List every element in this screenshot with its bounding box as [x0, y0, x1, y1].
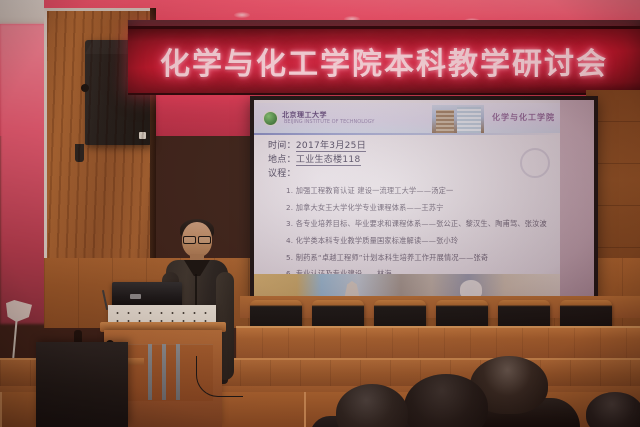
led-banner: 化学与化工学院本科教学研讨会: [128, 26, 640, 95]
laptop-indicator-icon: [130, 294, 141, 299]
lectern-trim: [176, 344, 180, 400]
agenda-item: 1. 加强工程教育认证 建设一流理工大学——汤定一: [286, 187, 552, 194]
lecture-hall-photo: 化学与化工学院本科教学研讨会 北京理工大学 BEIJING INSTITUTE …: [0, 0, 640, 427]
slide-meta-place: 地点：工业生态楼118: [268, 154, 552, 168]
power-cable: [196, 356, 243, 397]
slide-header: 北京理工大学 BEIJING INSTITUTE OF TECHNOLOGY 化…: [254, 103, 560, 133]
ceiling-spot-icon: [234, 12, 250, 18]
projection-screen: 北京理工大学 BEIJING INSTITUTE OF TECHNOLOGY 化…: [254, 100, 594, 300]
slide-meta-place-value: 工业生态楼118: [296, 155, 361, 166]
slide-meta-agenda-label: 议程：: [268, 168, 552, 182]
speaker-knob-icon: [81, 84, 89, 92]
slide-university-subtitle: BEIJING INSTITUTE OF TECHNOLOGY: [284, 120, 374, 126]
slide-college-name: 化学与化工学院: [492, 112, 555, 123]
slide-meta-place-label: 地点：: [268, 155, 296, 165]
slide-agenda-list: 1. 加强工程教育认证 建设一流理工大学——汤定一 2. 加拿大女王大学化学专业…: [268, 187, 552, 278]
slide-meta-time: 时间：2017年3月25日: [268, 140, 552, 154]
wall-plate-cable: [12, 318, 17, 358]
slide-body: 时间：2017年3月25日 地点：工业生态楼118 议程： 1. 加强工程教育认…: [268, 140, 552, 287]
campus-building-photo: [432, 105, 484, 133]
speaker-mount-bracket: [75, 144, 84, 162]
slide-watermark-icon: [520, 148, 550, 178]
university-logo-icon: [263, 111, 278, 126]
lectern-trim: [148, 344, 152, 400]
slide-header-rule: [254, 133, 560, 135]
agenda-item: 4. 化学类本科专业教学质量国家标准解读——张小玲: [286, 237, 552, 244]
agenda-item: 2. 加拿大女王大学化学专业课程体系——王苏宁: [286, 204, 552, 211]
glasses-icon: [183, 236, 211, 242]
lectern-trim: [162, 344, 166, 400]
banner-title-text: 化学与化工学院本科教学研讨会: [160, 39, 608, 83]
projection-screen-frame: 北京理工大学 BEIJING INSTITUTE OF TECHNOLOGY 化…: [250, 96, 598, 304]
floor-cabinet: [36, 342, 128, 427]
slide-meta-time-value: 2017年3月25日: [296, 141, 366, 152]
screen-right-shadow: [560, 100, 594, 300]
slide-meta-time-label: 时间：: [268, 141, 296, 151]
audience-head: [586, 392, 640, 427]
agenda-item: 3. 各专业培养目标、毕业要求和课程体系——张公正、黎汉生、陶甫驾、张汝波: [286, 220, 552, 227]
speaker-badge-icon: [139, 132, 146, 139]
agenda-item: 5. 制药系“卓越工程师”计划本科生培养工作开展情况——张奇: [286, 254, 552, 261]
